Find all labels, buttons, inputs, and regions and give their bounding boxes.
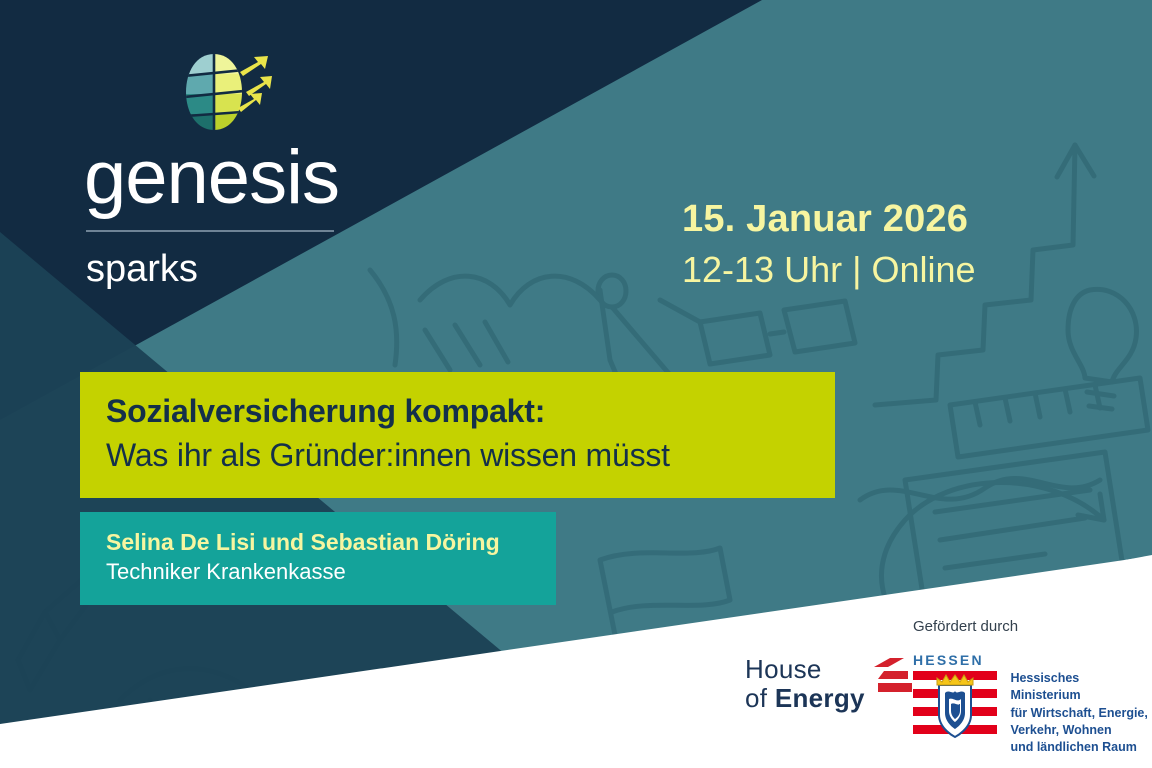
house-of-energy-logo: House of Energy [745,655,918,713]
event-title-box: Sozialversicherung kompakt: Was ihr als … [80,372,835,498]
genesis-leaf-arrows-icon [180,52,272,134]
event-date-block: 15. Januar 2026 12-13 Uhr | Online [682,200,976,291]
event-time-format: 12-13 Uhr | Online [682,248,976,291]
hessen-ministry-name: Hessisches Ministerium für Wirtschaft, E… [1010,670,1152,756]
hessen-wordmark: HESSEN [913,652,1000,668]
brand-subname: sparks [80,250,410,288]
event-poster: genesis sparks 15. Januar 2026 12-13 Uhr… [0,0,1152,768]
house-of-energy-line2-bold: Energy [775,683,865,713]
speaker-organisation: Techniker Krankenkasse [106,559,530,585]
event-title-primary: Sozialversicherung kompakt: [106,394,809,430]
funding-label: Gefördert durch [913,618,1018,635]
brand-name: genesis [80,140,410,216]
hessen-ministry-logo: HESSEN Hessisches Ministerium für Wirtsc… [913,652,1152,756]
red-stripes-icon [874,658,918,694]
brand-divider [86,230,334,232]
event-date: 15. Januar 2026 [682,200,976,240]
speaker-names: Selina De Lisi und Sebastian Döring [106,529,530,555]
house-of-energy-line1: House [745,655,865,684]
house-of-energy-line2-prefix: of [745,683,775,713]
event-title-secondary: Was ihr als Gründer:innen wissen müsst [106,436,809,474]
speaker-box: Selina De Lisi und Sebastian Döring Tech… [80,512,556,605]
brand-logo: genesis sparks [80,52,410,288]
hessen-coat-of-arms-icon [913,671,997,743]
